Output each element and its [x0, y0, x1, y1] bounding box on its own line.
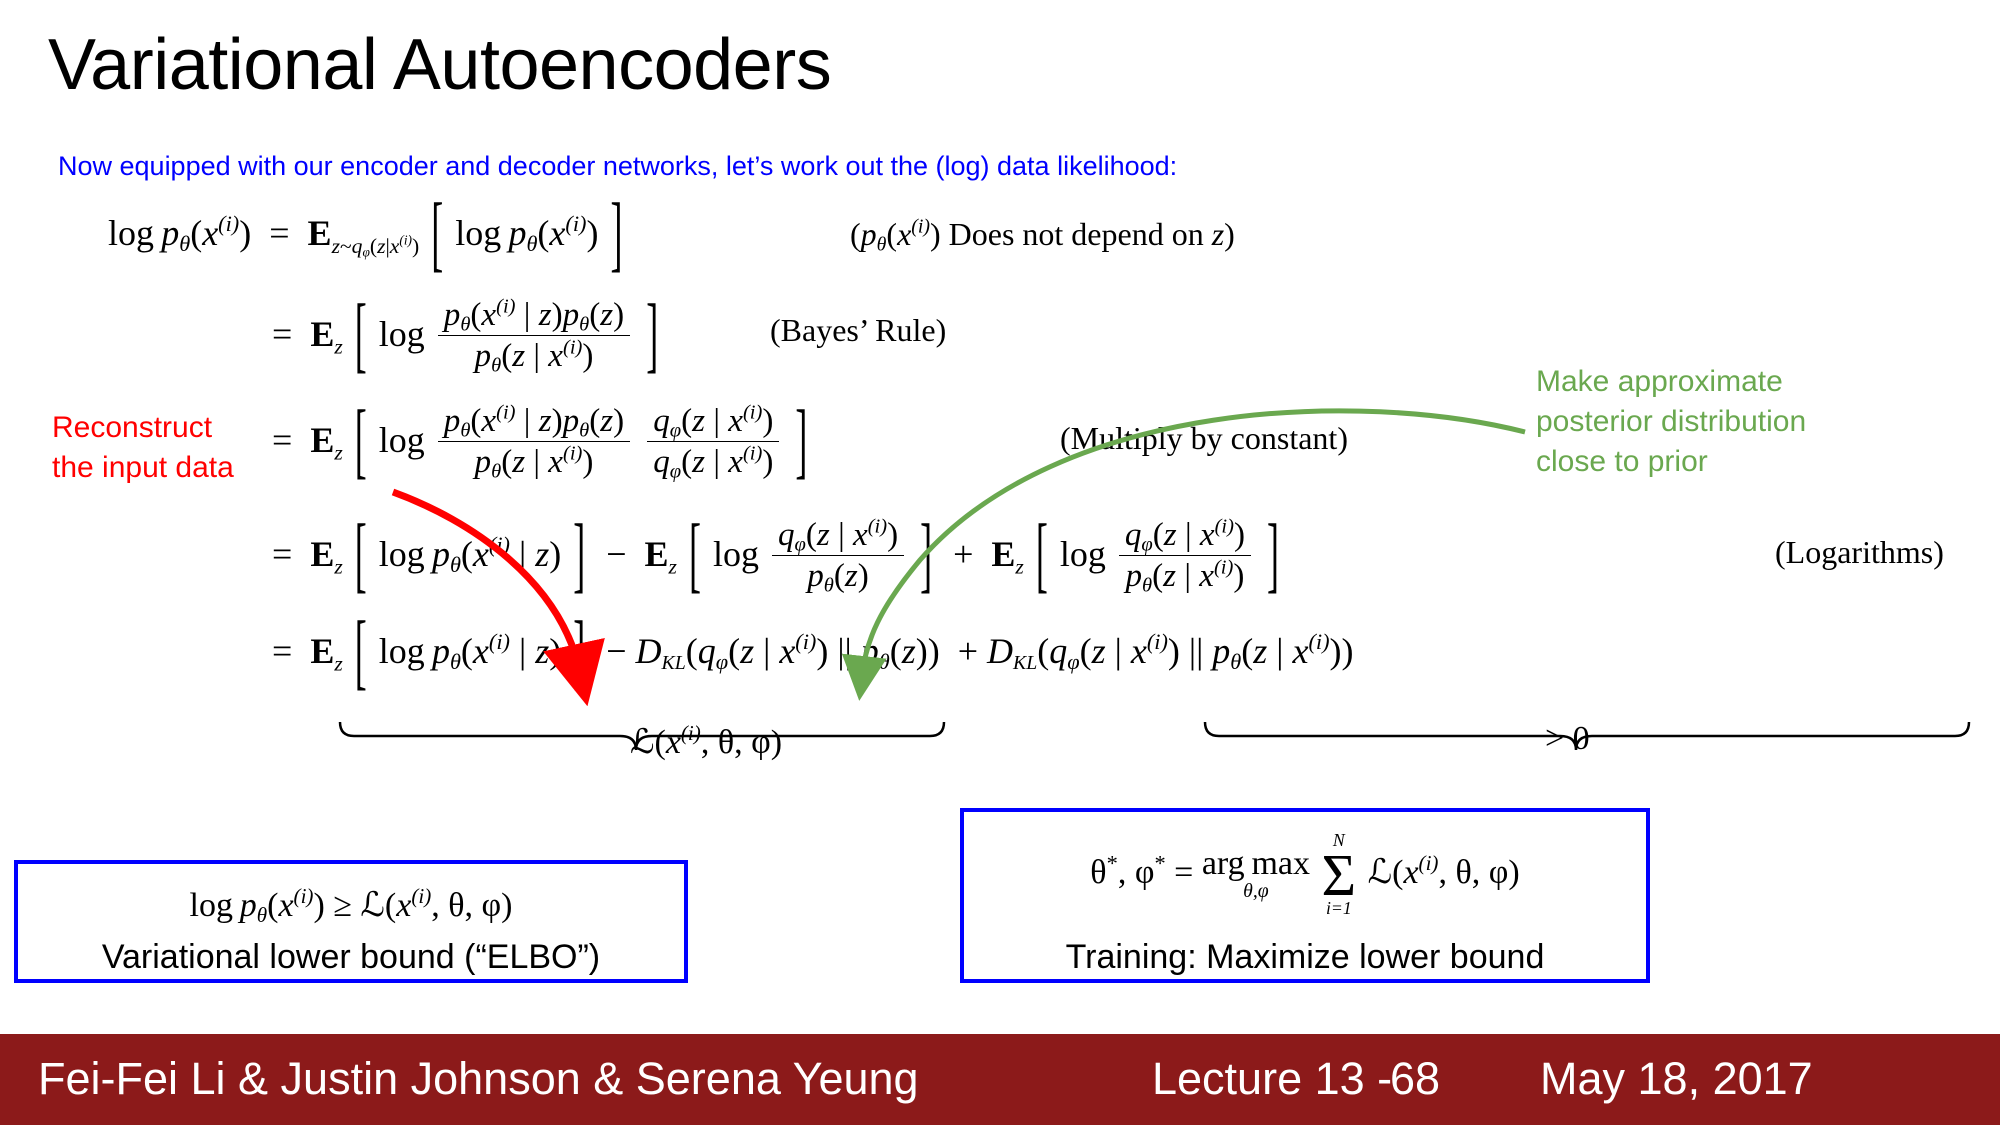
- footer-date: May 18, 2017: [1540, 1051, 1813, 1107]
- footer-lecture-label: Lecture 13 -: [1152, 1051, 1392, 1107]
- underbrace-right-label: > 0: [1545, 720, 1590, 758]
- derivation-note-3: (Multiply by constant): [1060, 420, 1348, 457]
- underbrace-left-label: ℒ(x(i), θ, φ): [630, 722, 782, 762]
- slide-root: Variational Autoencoders Now equipped wi…: [0, 0, 2000, 1125]
- red-annotation: Reconstruct the input data: [52, 408, 234, 488]
- page-title: Variational Autoencoders: [48, 22, 831, 108]
- derivation-line-1: log pθ(x(i)) = Ez~qφ(z|x(i)) [ log pθ(x(…: [108, 212, 625, 254]
- derivation-line-4: = Ez [ log pθ(x(i) | z) ] − Ez [ log qφ(…: [272, 518, 1282, 597]
- green-annotation-line-1: Make approximate: [1536, 362, 1806, 402]
- training-box-caption: Training: Maximize lower bound: [960, 938, 1650, 977]
- lead-sentence: Now equipped with our encoder and decode…: [58, 150, 1177, 182]
- red-annotation-line-2: the input data: [52, 448, 234, 488]
- footer-bar: Fei-Fei Li & Justin Johnson & Serena Yeu…: [0, 1034, 2000, 1125]
- green-annotation: Make approximate posterior distribution …: [1536, 362, 1806, 482]
- footer-page-number: 68: [1390, 1051, 1440, 1107]
- elbo-box-caption: Variational lower bound (“ELBO”): [14, 938, 688, 977]
- derivation-note-1: (pθ(x(i)) Does not depend on z): [850, 216, 1235, 253]
- green-annotation-line-2: posterior distribution: [1536, 402, 1806, 442]
- derivation-line-3: = Ez [ log pθ(x(i) | z)pθ(z) pθ(z | x(i)…: [272, 404, 810, 483]
- derivation-note-4: (Logarithms): [1775, 534, 1944, 571]
- derivation-line-5: = Ez [ log pθ(x(i) | z) ] − DKL(qφ(z | x…: [272, 630, 1354, 672]
- note-multiply-constant: (Multiply by constant): [1060, 420, 1348, 456]
- footer-authors: Fei-Fei Li & Justin Johnson & Serena Yeu…: [38, 1051, 919, 1107]
- green-annotation-line-3: close to prior: [1536, 442, 1806, 482]
- note-logarithms: (Logarithms): [1775, 534, 1944, 570]
- red-annotation-line-1: Reconstruct: [52, 408, 234, 448]
- note-bayes-rule: (Bayes’ Rule): [770, 312, 946, 348]
- derivation-block: log pθ(x(i)) = Ez~qφ(z|x(i)) [ log pθ(x(…: [0, 182, 2000, 822]
- derivation-note-2: (Bayes’ Rule): [770, 312, 946, 349]
- derivation-line-2: = Ez [ log pθ(x(i) | z)pθ(z) pθ(z | x(i)…: [272, 298, 661, 377]
- training-box-math: θ*, φ* = arg maxθ,φ NΣi=1 ℒ(x(i), θ, φ): [960, 832, 1650, 918]
- elbo-box-math: log pθ(x(i)) ≥ ℒ(x(i), θ, φ): [14, 885, 688, 925]
